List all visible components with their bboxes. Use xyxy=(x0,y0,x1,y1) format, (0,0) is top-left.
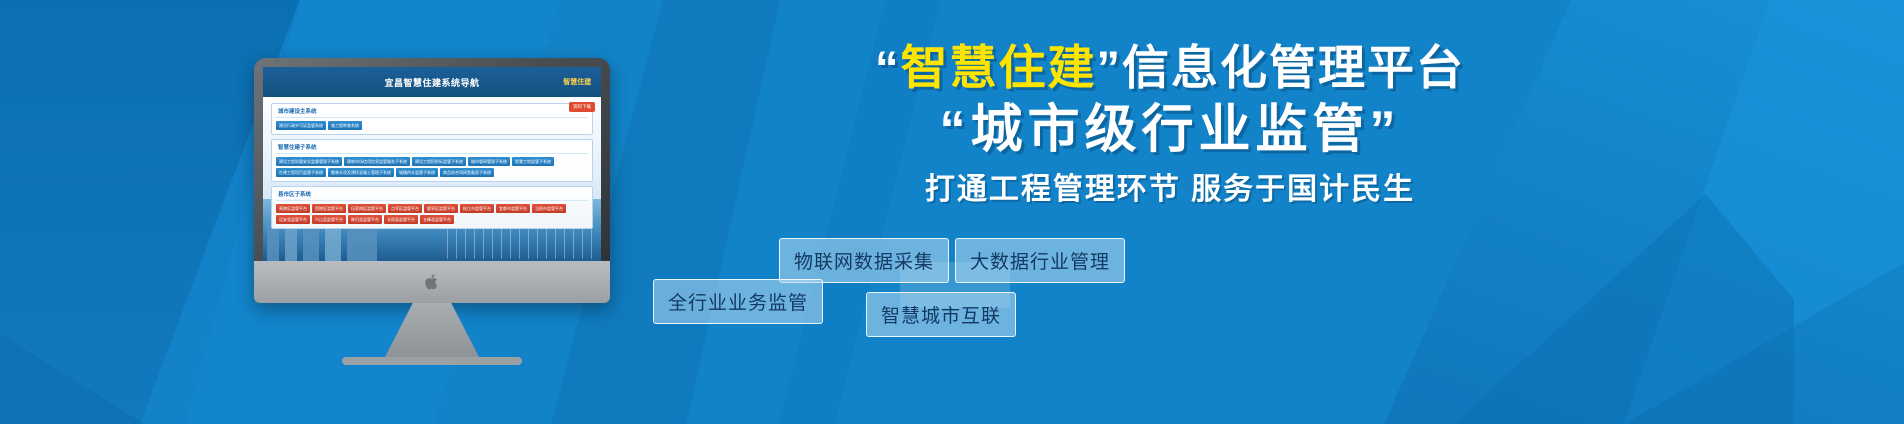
screen-mini-chip[interactable]: 兴山县监管平台 xyxy=(312,215,346,224)
screen-mini-chip[interactable]: 建设工程质量安全监督管理子系统 xyxy=(276,157,342,166)
headline-quote-open: “ xyxy=(875,41,901,94)
monitor-chin xyxy=(254,261,610,303)
imac-mockup: 宜昌智慧住建系统导航 智慧住建 ZHIHUI ZHUJIAN 资料下载 城市建设… xyxy=(254,58,610,303)
monitor-stand xyxy=(384,303,480,359)
screen-body: 资料下载 城市建设主系统 建设行政许可证监管系统 施工图审查系统 智慧住建子系统… xyxy=(263,97,601,261)
screen-mini-chip[interactable]: 秭归县监管平台 xyxy=(348,215,382,224)
feature-chip-bigdata-management[interactable]: 大数据行业管理 xyxy=(955,238,1125,283)
screen-mini-chip[interactable]: 城镇供水监管子系统 xyxy=(396,168,438,177)
headline-highlight: 智慧住建 xyxy=(901,41,1097,94)
screen-mini-chip[interactable]: 建筑市场信用信息监管服务子系统 xyxy=(344,157,410,166)
screen-mini-chip[interactable]: 远安县监管平台 xyxy=(276,215,310,224)
monitor-bezel: 宜昌智慧住建系统导航 智慧住建 ZHIHUI ZHUJIAN 资料下载 城市建设… xyxy=(254,58,610,303)
screen-mini-chip[interactable]: 五峰县监管平台 xyxy=(420,215,454,224)
screen-panel-title: 城市建设主系统 xyxy=(276,106,588,118)
download-badge[interactable]: 资料下载 xyxy=(569,102,595,112)
screen-panel-items: 建设行政许可证监管系统 施工图审查系统 xyxy=(276,121,588,130)
screen-mini-chip[interactable]: 建设工程招投标监管子系统 xyxy=(412,157,466,166)
screen-panel: 城市建设主系统 建设行政许可证监管系统 施工图审查系统 xyxy=(271,103,593,135)
headline-primary-rest: 信息化管理平台 xyxy=(1122,41,1465,94)
screen-mini-chip[interactable]: 建设行政许可证监管系统 xyxy=(276,121,326,130)
background-facet-7 xyxy=(1454,194,1794,424)
monitor-base xyxy=(342,357,522,365)
headline-tagline: 打通工程管理环节 服务于国计民生 xyxy=(640,170,1700,209)
screen-mini-chip[interactable]: 西陵区监管平台 xyxy=(312,204,346,213)
screen-mini-chip[interactable]: 猇亭区监管平台 xyxy=(424,204,458,213)
screen-mini-chip[interactable]: 商品房合同网签备案子系统 xyxy=(440,168,494,177)
screen-mini-chip[interactable]: 当阳市监管平台 xyxy=(532,204,566,213)
headline-group: “智慧住建”信息化管理平台 “城市级行业监管” 打通工程管理环节 服务于国计民生 xyxy=(640,40,1700,209)
screen-panel-title: 智慧住建子系统 xyxy=(276,142,588,154)
screen-mini-chip[interactable]: 枝江市监管平台 xyxy=(460,204,494,213)
screen-title: 宜昌智慧住建系统导航 xyxy=(384,76,479,89)
monitor-screen: 宜昌智慧住建系统导航 智慧住建 ZHIHUI ZHUJIAN 资料下载 城市建设… xyxy=(263,67,601,261)
feature-chip-iot-data[interactable]: 物联网数据采集 xyxy=(779,238,949,283)
feature-chip-smart-city[interactable]: 智慧城市互联 xyxy=(866,292,1016,337)
headline-secondary: “城市级行业监管” xyxy=(640,99,1700,161)
screen-mini-chip[interactable]: 散装水泥及预拌混凝土管理子系统 xyxy=(328,168,394,177)
screen-logo-cn: 智慧住建 xyxy=(563,79,591,86)
feature-chip-industry-supervision[interactable]: 全行业业务监管 xyxy=(653,279,823,324)
screen-panel: 智慧住建子系统 建设工程质量安全监督管理子系统 建筑市场信用信息监管服务子系统 … xyxy=(271,139,593,182)
screen-mini-chip[interactable]: 智慧工地监管子系统 xyxy=(512,157,554,166)
screen-panel-title: 县市区子系统 xyxy=(276,189,588,201)
screen-mini-chip[interactable]: 宜都市监管平台 xyxy=(496,204,530,213)
screen-panel-items: 建设工程质量安全监督管理子系统 建筑市场信用信息监管服务子系统 建设工程招投标监… xyxy=(276,157,588,177)
background-facet-8 xyxy=(0,274,240,424)
screen-mini-chip[interactable]: 长阳县监管平台 xyxy=(384,215,418,224)
screen-mini-chip[interactable]: 点军区监管平台 xyxy=(388,204,422,213)
screen-mini-chip[interactable]: 夷陵区监管平台 xyxy=(276,204,310,213)
headline-quote-close: ” xyxy=(1097,41,1123,94)
screen-panel: 县市区子系统 夷陵区监管平台 西陵区监管平台 伍家岗区监管平台 点军区监管平台 … xyxy=(271,186,593,229)
screen-topbar: 宜昌智慧住建系统导航 智慧住建 ZHIHUI ZHUJIAN xyxy=(263,67,601,97)
promo-banner: 宜昌智慧住建系统导航 智慧住建 ZHIHUI ZHUJIAN 资料下载 城市建设… xyxy=(0,0,1904,424)
screen-mini-chip[interactable]: 伍家岗区监管平台 xyxy=(348,204,386,213)
screen-mini-chip[interactable]: 城市管网管理子系统 xyxy=(468,157,510,166)
screen-mini-chip[interactable]: 在建工程项目监管子系统 xyxy=(276,168,326,177)
screen-panel-items: 夷陵区监管平台 西陵区监管平台 伍家岗区监管平台 点军区监管平台 猇亭区监管平台… xyxy=(276,204,588,224)
apple-logo-icon xyxy=(425,273,440,291)
screen-mini-chip[interactable]: 施工图审查系统 xyxy=(328,121,362,130)
headline-primary: “智慧住建”信息化管理平台 xyxy=(640,40,1700,95)
